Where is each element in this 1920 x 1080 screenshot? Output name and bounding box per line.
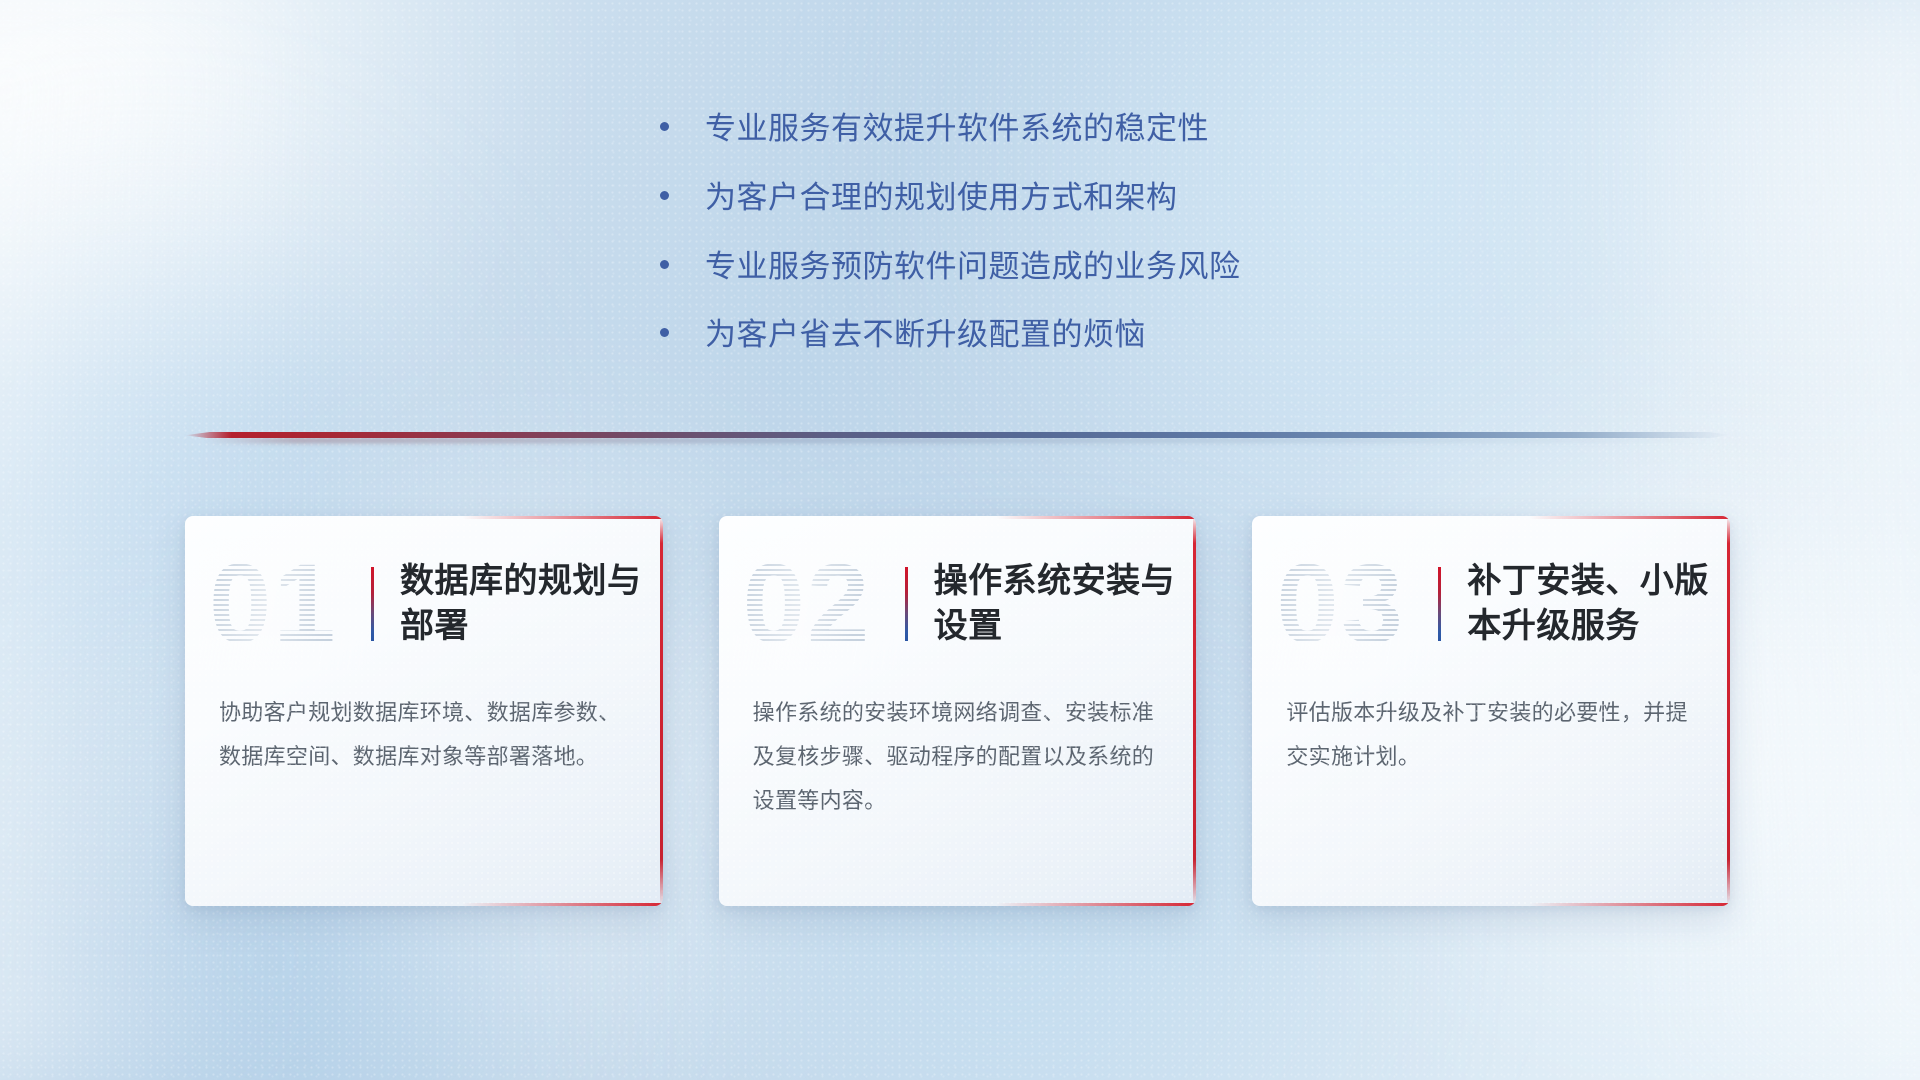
service-card-01[interactable]: 01 数据库的规划与部署 协助客户规划数据库环境、数据库参数、数据库空间、数据库…	[185, 516, 663, 906]
card-vertical-divider-icon	[371, 567, 374, 641]
card-header: 01 数据库的规划与部署	[185, 516, 663, 691]
card-number-watermark: 01	[209, 544, 359, 664]
card-number-watermark: 03	[1276, 544, 1426, 664]
divider-shadow	[204, 438, 1712, 443]
bullet-text: 专业服务有效提升软件系统的稳定性	[705, 110, 1209, 149]
bullet-text: 专业服务预防软件问题造成的业务风险	[705, 248, 1241, 287]
divider-bar	[185, 432, 1730, 438]
bullet-text: 为客户合理的规划使用方式和架构	[705, 179, 1178, 218]
card-title: 操作系统安装与设置	[934, 559, 1197, 649]
bullet-dot-icon	[660, 260, 669, 269]
service-card-list: 01 数据库的规划与部署 协助客户规划数据库环境、数据库参数、数据库空间、数据库…	[185, 516, 1730, 906]
card-accent-bottom-edge	[1529, 903, 1730, 906]
card-number-text: 01	[209, 544, 359, 664]
card-header: 02 操作系统安装与设置	[719, 516, 1197, 691]
list-item: 专业服务有效提升软件系统的稳定性	[660, 110, 1420, 149]
card-title: 数据库的规划与部署	[400, 559, 663, 649]
card-accent-bottom-edge	[996, 903, 1197, 906]
card-number-watermark: 02	[743, 544, 893, 664]
service-card-02[interactable]: 02 操作系统安装与设置 操作系统的安装环境网络调查、安装标准及复核步骤、驱动程…	[719, 516, 1197, 906]
card-number-text: 03	[1276, 544, 1426, 664]
card-header: 03 补丁安装、小版本升级服务	[1252, 516, 1730, 691]
benefits-bullet-list: 专业服务有效提升软件系统的稳定性 为客户合理的规划使用方式和架构 专业服务预防软…	[660, 110, 1420, 355]
card-body-text: 操作系统的安装环境网络调查、安装标准及复核步骤、驱动程序的配置以及系统的设置等内…	[719, 691, 1197, 823]
card-accent-bottom-edge	[462, 903, 663, 906]
list-item: 专业服务预防软件问题造成的业务风险	[660, 248, 1420, 287]
service-card-03[interactable]: 03 补丁安装、小版本升级服务 评估版本升级及补丁安装的必要性，并提交实施计划。	[1252, 516, 1730, 906]
card-vertical-divider-icon	[1438, 567, 1441, 641]
card-number-text: 02	[743, 544, 893, 664]
card-vertical-divider-icon	[905, 567, 908, 641]
bullet-dot-icon	[660, 191, 669, 200]
card-title: 补丁安装、小版本升级服务	[1467, 559, 1730, 649]
bullet-text: 为客户省去不断升级配置的烦恼	[705, 316, 1146, 355]
section-divider	[185, 424, 1730, 450]
list-item: 为客户省去不断升级配置的烦恼	[660, 316, 1420, 355]
card-body-text: 协助客户规划数据库环境、数据库参数、数据库空间、数据库对象等部署落地。	[185, 691, 663, 779]
bullet-dot-icon	[660, 122, 669, 131]
list-item: 为客户合理的规划使用方式和架构	[660, 179, 1420, 218]
card-body-text: 评估版本升级及补丁安装的必要性，并提交实施计划。	[1252, 691, 1730, 779]
bullet-dot-icon	[660, 328, 669, 337]
